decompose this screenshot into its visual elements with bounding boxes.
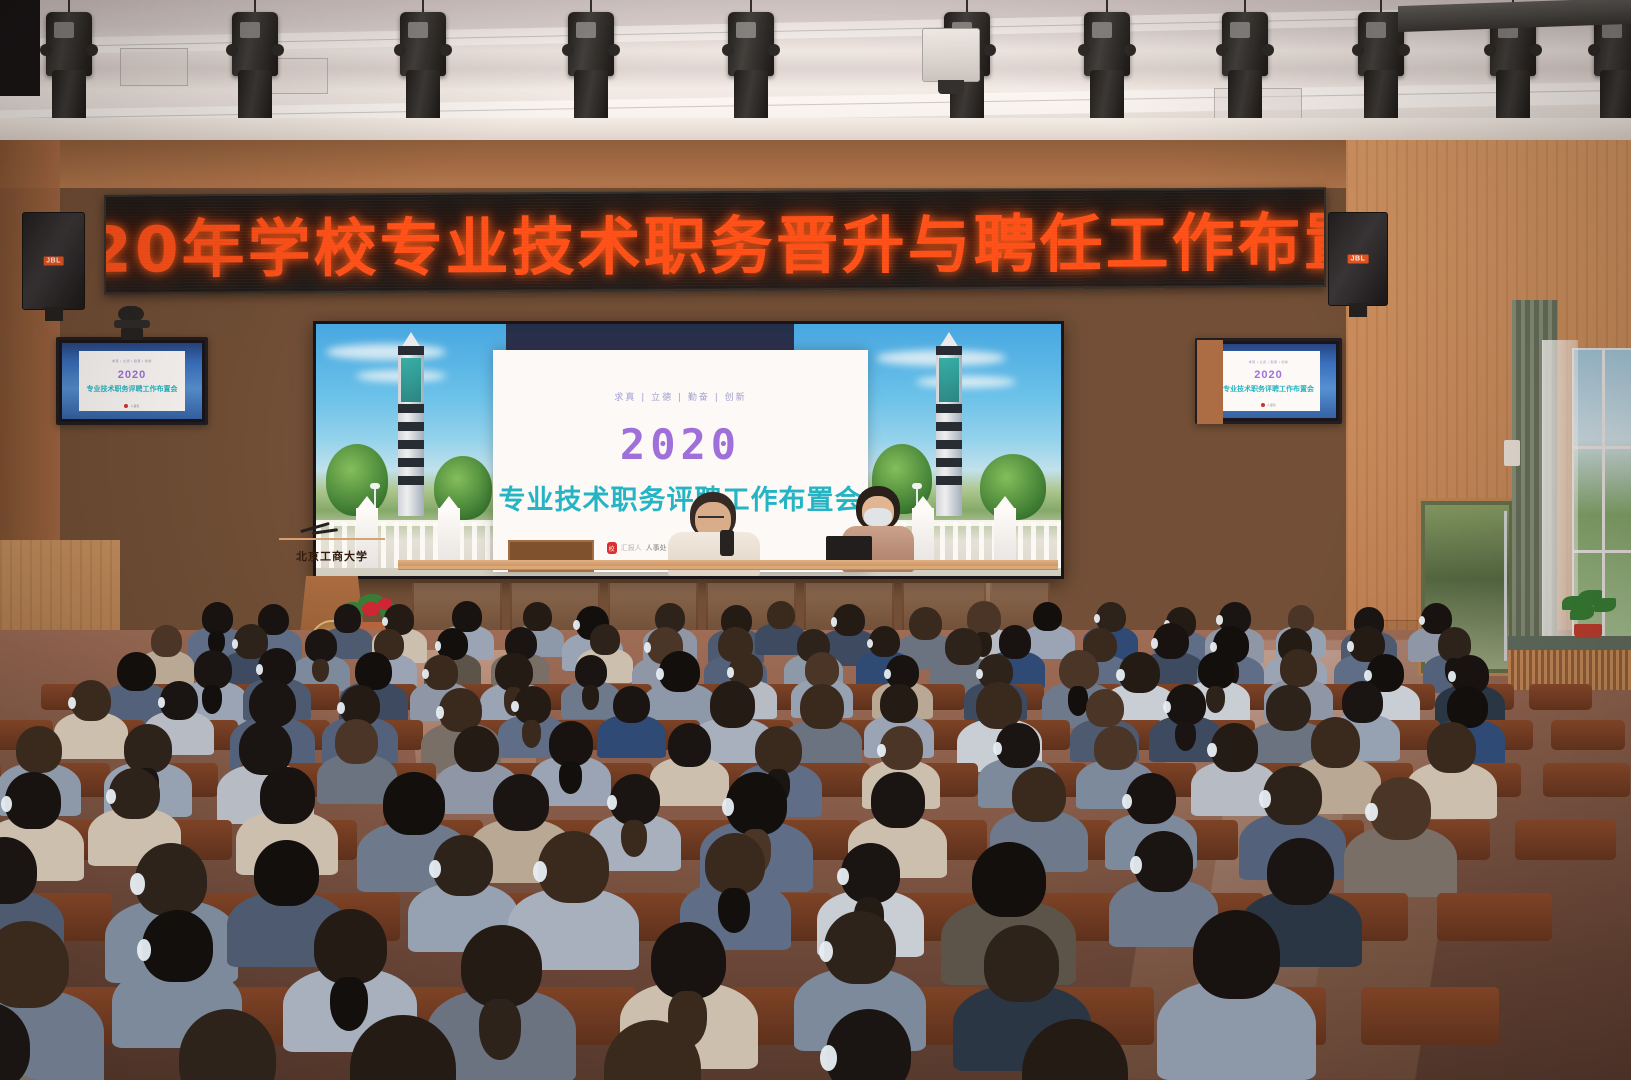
audience-head (705, 833, 765, 895)
face-mask (1364, 670, 1371, 681)
audience-head (726, 772, 787, 834)
audience-head (1266, 685, 1312, 732)
audience-head (869, 626, 900, 658)
audience-head (996, 723, 1039, 767)
audience-member (179, 1009, 276, 1080)
audience-head (179, 1009, 276, 1080)
corner-screen (0, 0, 40, 96)
audience-head (1134, 831, 1193, 891)
window-sill (1508, 636, 1631, 650)
audience-hair-tie (582, 685, 599, 709)
audience-head (575, 655, 608, 688)
fence-pillar (438, 508, 460, 568)
audience-member (800, 684, 844, 768)
audience-head (590, 624, 620, 655)
audience-head (452, 601, 482, 632)
audience-head (659, 651, 699, 692)
audience-member (659, 651, 699, 728)
audience-member (1370, 777, 1432, 894)
audience-member (71, 680, 111, 756)
fire-extinguisher-icon (1504, 440, 1520, 466)
audience-head (335, 719, 378, 763)
seat[interactable] (1361, 987, 1499, 1045)
slide-year: 2020 (493, 424, 868, 466)
audience-head (841, 843, 899, 903)
audience-head (16, 726, 62, 773)
presenter-label: 汇报人 (621, 543, 642, 553)
audience-head (1370, 777, 1432, 840)
face-mask (1216, 615, 1222, 625)
audience-member (194, 650, 232, 723)
side-monitor-right: 求真 | 立德 | 勤奋 | 创新 2020 专业技术职务评聘工作布置会 人事处 (1195, 338, 1342, 424)
audience-head (1094, 726, 1137, 770)
conference-hall-photo: 2020年学校专业技术职务晋升与聘任工作布置会 JBL JBL 求真 | 立德 … (0, 0, 1631, 1080)
audience-head (1193, 910, 1280, 999)
audience-head (334, 604, 362, 632)
audience-head (710, 681, 756, 728)
face-mask (1116, 669, 1124, 681)
audience-head (142, 910, 213, 982)
audience-head (433, 835, 493, 896)
seat[interactable] (1515, 820, 1616, 860)
audience-head (1059, 650, 1099, 691)
face-mask (1259, 790, 1271, 807)
mirrored-slide: 求真 | 立德 | 勤奋 | 创新 2020 专业技术职务评聘工作布置会 人事处 (1217, 351, 1320, 410)
lectern-university-name: 北京工商大学 (272, 548, 392, 564)
audience-head (71, 680, 111, 721)
face-mask (884, 669, 891, 679)
audience-head (1086, 689, 1124, 727)
audience-member (710, 681, 756, 768)
audience-head (805, 652, 839, 687)
wall-speaker-right: JBL (1328, 212, 1388, 306)
face-mask (877, 744, 885, 757)
campus-tree (326, 444, 388, 516)
audience-head (314, 909, 387, 984)
audience-head (1280, 649, 1317, 687)
audience-head (1427, 722, 1477, 773)
audience-hair-tie (559, 761, 582, 794)
audience-member (538, 831, 609, 966)
face-mask (993, 742, 1002, 755)
audience-head (493, 774, 549, 831)
audience-head (1311, 717, 1360, 767)
audience-head (613, 686, 650, 724)
mini-slide-title: 专业技术职务评聘工作布置会 (1217, 384, 1320, 394)
face-mask (1094, 614, 1100, 623)
audience-member (610, 774, 660, 869)
mini-footer-presenter: 人事处 (1267, 403, 1276, 407)
audience-head (972, 842, 1045, 917)
audience-head (305, 629, 337, 662)
face-mask (1163, 701, 1171, 713)
audience-member (549, 721, 592, 804)
mini-slide-title: 专业技术职务评聘工作布置会 (79, 384, 185, 394)
fence-pillar (994, 508, 1016, 568)
video-camera-icon (114, 306, 150, 328)
audience-head (350, 1015, 455, 1080)
face-mask (511, 701, 518, 712)
audience-head (383, 772, 444, 835)
audience-head (424, 655, 458, 689)
audience-hair-tie (312, 659, 329, 683)
audience-hair-tie (202, 685, 222, 714)
audience-head (1166, 684, 1206, 725)
face-mask (607, 795, 617, 810)
audience-head (651, 922, 726, 999)
face-mask (837, 868, 849, 886)
school-badge-icon: 校 (607, 542, 617, 554)
face-mask (820, 1045, 837, 1071)
audience-member (767, 601, 795, 654)
audience-member (1266, 685, 1312, 772)
audience-hair-tie (1175, 721, 1196, 751)
seat[interactable] (1551, 720, 1625, 750)
audience-head (1267, 838, 1333, 906)
jbl-logo: JBL (43, 257, 64, 266)
audience-member (1166, 684, 1206, 761)
ceiling-projector (922, 28, 980, 82)
headset-icon (720, 530, 734, 556)
face-mask (137, 939, 151, 960)
audience-head (160, 681, 198, 719)
audience-head (610, 774, 660, 825)
fence-pillar (912, 508, 934, 568)
audience-head (249, 680, 296, 728)
audience-head (755, 726, 802, 774)
jbl-logo: JBL (1348, 255, 1369, 264)
mini-slide-subtitle: 求真 | 立德 | 勤奋 | 创新 (79, 359, 185, 363)
face-mask (1130, 856, 1142, 874)
audience-head (909, 607, 942, 640)
face-mask (382, 617, 388, 626)
audience-head (254, 840, 319, 906)
audience-head (0, 921, 69, 1008)
audience-head (1126, 773, 1176, 824)
audience-head (800, 684, 844, 729)
audience-head (833, 604, 865, 636)
audience-member (514, 686, 551, 757)
audience-member (668, 723, 711, 804)
face-mask (1365, 803, 1377, 822)
audience-head (1263, 766, 1321, 825)
audience-member (1119, 652, 1160, 729)
audience-member (1022, 1019, 1128, 1080)
audience-head (194, 650, 232, 689)
microphone-icon (312, 528, 338, 535)
audience-head (260, 767, 316, 824)
face-mask (232, 639, 239, 649)
mini-slide-footer: 人事处 (79, 404, 185, 408)
audience-head (1033, 602, 1062, 632)
audience-head (454, 726, 499, 772)
face-mask (130, 873, 144, 895)
mini-slide-subtitle: 求真 | 立德 | 勤奋 | 创新 (1217, 360, 1320, 364)
seat[interactable] (1543, 763, 1630, 797)
audience-member (350, 1015, 455, 1080)
audience-head (880, 684, 918, 723)
audience-head (202, 602, 233, 634)
mirrored-slide: 求真 | 立德 | 勤奋 | 创新 2020 专业技术职务评聘工作布置会 人事处 (79, 351, 185, 412)
audience-head (461, 925, 542, 1007)
audience-head (1012, 767, 1066, 822)
audience-head (5, 772, 60, 829)
campus-tower (398, 346, 424, 516)
audience-member (335, 719, 378, 802)
face-mask (435, 641, 441, 650)
door-handle-icon[interactable] (1504, 511, 1507, 661)
mini-slide-year: 2020 (79, 369, 185, 381)
audience-head (824, 911, 896, 984)
projector-lens-icon (938, 80, 964, 94)
audience-member (1134, 831, 1193, 943)
audience-head (984, 925, 1059, 1001)
potted-plant (1560, 590, 1618, 638)
face-mask (1207, 743, 1217, 757)
audience-head (668, 723, 711, 766)
slide-footer-presenter: 校 汇报人 人事处 (607, 542, 667, 554)
face-mask (864, 508, 892, 526)
audience-head (549, 721, 592, 765)
audience-member (334, 604, 362, 657)
monitor-mount (121, 328, 143, 340)
audience-head (945, 628, 981, 665)
audience-member (613, 686, 650, 756)
face-mask (727, 667, 734, 677)
audience-member (305, 629, 337, 690)
audience-head (109, 768, 159, 819)
audience-head (538, 831, 609, 904)
led-banner: 2020年学校专业技术职务晋升与聘任工作布置会 (104, 187, 1326, 294)
audience-head (826, 1009, 912, 1080)
ceiling-vent (120, 48, 188, 86)
audience-head (767, 601, 795, 629)
audience-head (1119, 652, 1160, 693)
mini-slide-year: 2020 (1217, 369, 1320, 381)
face-mask (1419, 616, 1425, 625)
audience-head (1022, 1019, 1128, 1080)
audience-head (604, 1020, 701, 1080)
audience-head (117, 652, 156, 691)
audience-member (1211, 723, 1259, 813)
led-banner-text: 2020年学校专业技术职务晋升与聘任工作布置会 (104, 191, 1326, 291)
audience-member (1193, 910, 1280, 1075)
audience-member (1427, 722, 1477, 816)
audience-member (254, 840, 319, 963)
mini-slide-footer: 人事处 (1217, 403, 1320, 407)
audience-head (880, 726, 922, 769)
face-mask (831, 617, 837, 627)
audience-head (124, 724, 172, 773)
audience-head (1211, 723, 1259, 771)
face-mask (256, 664, 263, 675)
campus-tower (936, 346, 962, 516)
audience-member (461, 925, 542, 1079)
audience-head (871, 772, 925, 827)
audience-member (0, 1002, 30, 1080)
face-mask (976, 669, 983, 679)
mini-footer-presenter: 人事处 (130, 404, 139, 408)
audience-hair-tie (522, 720, 541, 748)
audience-member (826, 1009, 912, 1080)
audience-member (575, 655, 608, 717)
slide-subtitle: 求真 | 立德 | 勤奋 | 创新 (493, 390, 868, 403)
presenter-value: 人事处 (646, 543, 667, 553)
seat[interactable] (1529, 684, 1592, 710)
audience-member (604, 1020, 701, 1080)
seat[interactable] (1437, 893, 1552, 941)
audience-head (514, 686, 551, 724)
audience-head (135, 843, 207, 917)
face-mask (1151, 638, 1158, 649)
audience-hair-tie (479, 999, 521, 1060)
face-mask (337, 702, 345, 714)
side-monitor-left: 求真 | 立德 | 勤奋 | 创新 2020 专业技术职务评聘工作布置会 人事处 (56, 337, 208, 425)
audience-member (117, 652, 156, 725)
audience-head (0, 1002, 30, 1080)
wall-speaker-left: JBL (22, 212, 85, 310)
audience-head (976, 682, 1022, 729)
face-mask (1347, 641, 1354, 652)
